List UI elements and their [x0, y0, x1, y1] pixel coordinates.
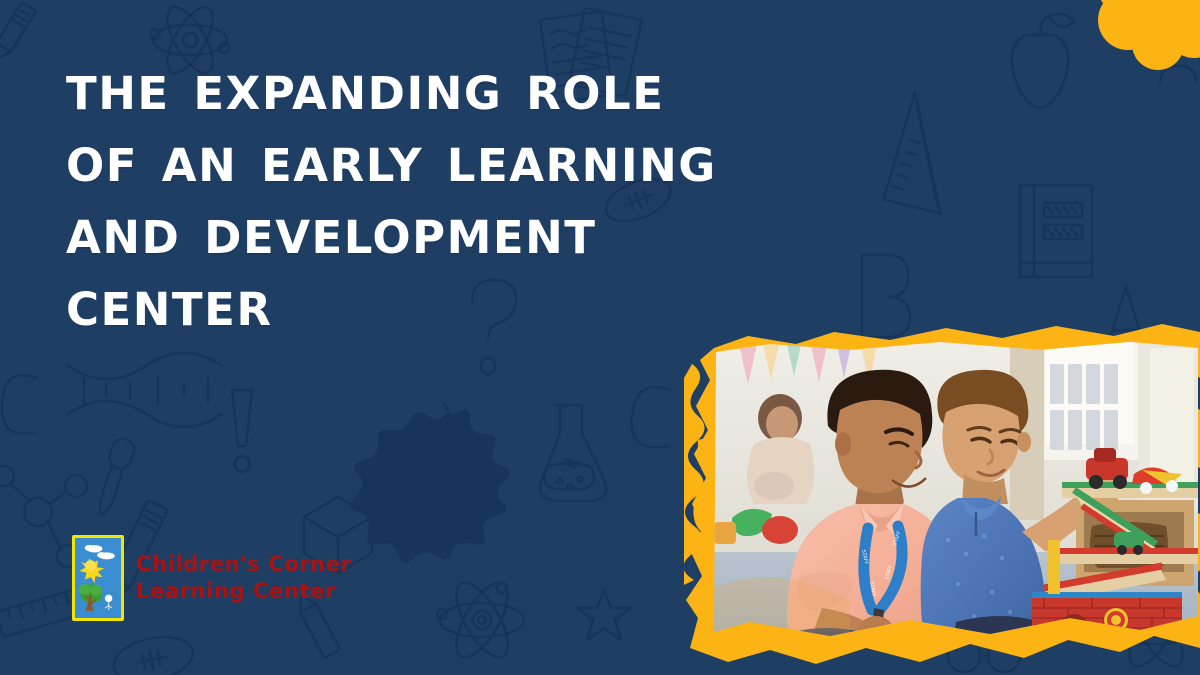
- corner-cloud-decoration: [1072, 0, 1200, 86]
- brand-logo[interactable]: Children's Corner Learning Center: [72, 535, 352, 621]
- page-title: The Expanding Role of an Early Learning …: [66, 52, 966, 340]
- hero-photo: STAFF STAFF STAFF STAFF: [684, 318, 1200, 675]
- logo-mark-icon: [72, 535, 124, 621]
- classroom-photo-content: STAFF STAFF STAFF STAFF: [710, 340, 1200, 652]
- banner-canvas: The Expanding Role of an Early Learning …: [0, 0, 1200, 675]
- logo-wordmark: Children's Corner Learning Center: [136, 551, 352, 605]
